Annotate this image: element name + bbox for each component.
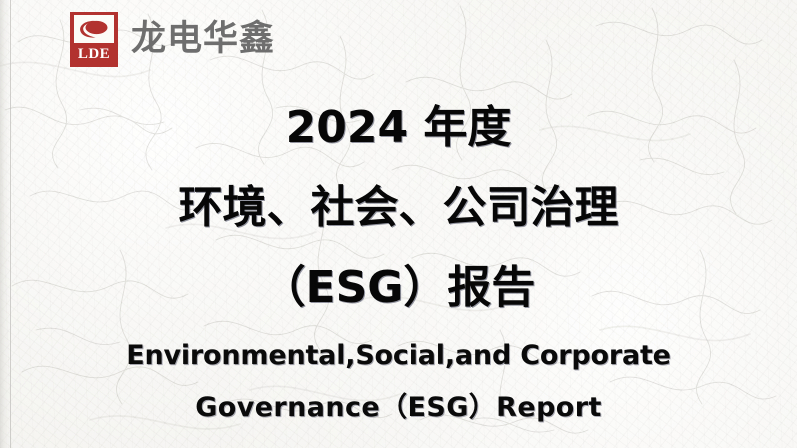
company-name: 龙电华鑫	[131, 22, 275, 57]
subtitle-line-1: Environmental,Social,and Corporate	[0, 330, 797, 382]
title-line-3: （ESG）报告	[0, 248, 797, 328]
report-subtitle: Environmental,Social,and Corporate Gover…	[0, 330, 797, 434]
title-line-1: 2024 年度	[0, 88, 797, 168]
title-line-2: 环境、社会、公司治理	[0, 168, 797, 248]
subtitle-line-2: Governance（ESG）Report	[0, 382, 797, 434]
lde-crescent-icon	[74, 15, 114, 43]
company-logo[interactable]: LDE 龙电华鑫	[70, 12, 275, 67]
report-cover-slide: LDE 龙电华鑫 2024 年度 环境、社会、公司治理 （ESG）报告 Envi…	[0, 0, 797, 448]
lde-logo-text: LDE	[78, 43, 110, 65]
lde-logo-mark: LDE	[70, 12, 118, 67]
report-title: 2024 年度 环境、社会、公司治理 （ESG）报告	[0, 88, 797, 328]
